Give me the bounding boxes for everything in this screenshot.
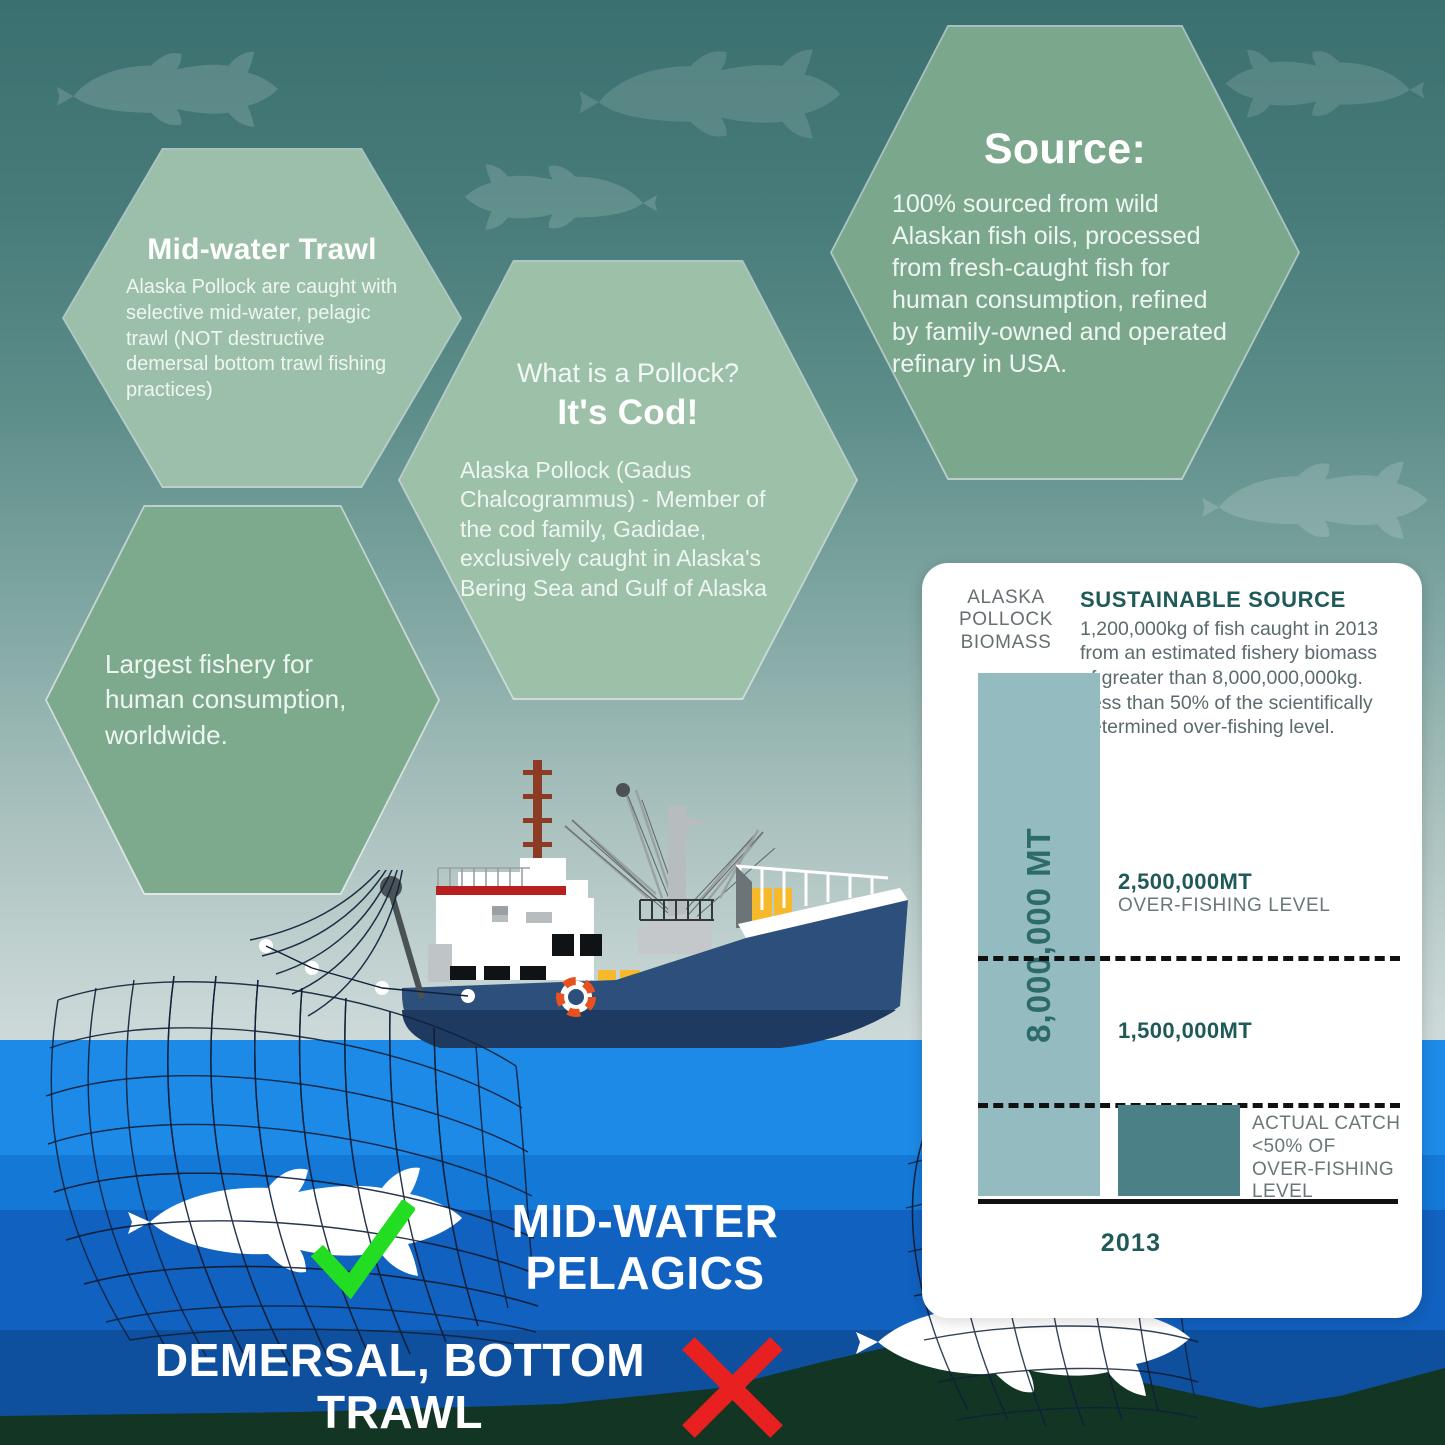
- label-midwater-pelagics: MID-WATER PELAGICS: [430, 1196, 860, 1299]
- hexagon-source-body: 100% sourced from wild Alaskan fish oils…: [892, 188, 1238, 380]
- hexagon-pollock-title: It's Cod!: [557, 393, 698, 434]
- over-fishing-annotation: 2,500,000MT OVER-FISHING LEVEL: [1118, 869, 1408, 918]
- chart-x-axis: [978, 1199, 1398, 1204]
- hexagon-midwater-body: Alaska Pollock are caught with selective…: [126, 275, 398, 403]
- label-demersal-bottom-trawl: DEMERSAL, BOTTOM TRAWL: [140, 1335, 660, 1438]
- hexagon-largest-fishery-body: Largest fishery for human consumption, w…: [105, 647, 380, 752]
- hexagon-source-title: Source:: [984, 125, 1146, 175]
- pollock-fish-silhouette: [50, 32, 285, 144]
- actual-catch-caption: ACTUAL CATCH <50% of OVER-FISHING LEVEL: [1252, 1113, 1402, 1204]
- bar-alaska-pollock-biomass: 8,000,000 MT: [978, 673, 1100, 1196]
- mid-level-value: 1,500,000MT: [1118, 1018, 1252, 1043]
- bar-value-label: 8,000,000 MT: [1020, 827, 1058, 1043]
- biomass-chart-card: ALASKA POLLOCK BIOMASS SUSTAINABLE SOURC…: [922, 563, 1422, 1318]
- chart-year-label: 2013: [1016, 1229, 1246, 1258]
- close-icon: [680, 1335, 785, 1440]
- hexagon-midwater-title: Mid-water Trawl: [147, 233, 377, 268]
- sustainable-source-title: SUSTAINABLE SOURCE: [1080, 587, 1398, 614]
- check-icon: [310, 1200, 415, 1305]
- pollock-fish-silhouette: [452, 150, 670, 242]
- hexagon-source: Source: 100% sourced from wild Alaskan f…: [830, 25, 1300, 480]
- pollock-fish-silhouette: [560, 30, 860, 155]
- mid-level-annotation: 1,500,000MT: [1118, 1018, 1408, 1045]
- biomass-axis-label: ALASKA POLLOCK BIOMASS: [946, 587, 1066, 654]
- reference-line-over-fishing: [978, 956, 1400, 961]
- hexagon-what-is-a-pollock: What is a Pollock? It's Cod! Alaska Poll…: [398, 260, 858, 700]
- bar-actual-catch: [1118, 1105, 1240, 1196]
- over-fishing-caption: OVER-FISHING LEVEL: [1118, 895, 1330, 916]
- hexagon-pollock-body: Alaska Pollock (Gadus Chalcogrammus) - M…: [460, 456, 796, 603]
- bar-chart-plot: 8,000,000 MT 2,500,000MT OVER-FISHING LE…: [946, 673, 1398, 1258]
- infographic-canvas: Mid-water Trawl Alaska Pollock are caugh…: [0, 0, 1445, 1445]
- over-fishing-value: 2,500,000MT: [1118, 869, 1408, 895]
- hexagon-pollock-question: What is a Pollock?: [517, 357, 739, 389]
